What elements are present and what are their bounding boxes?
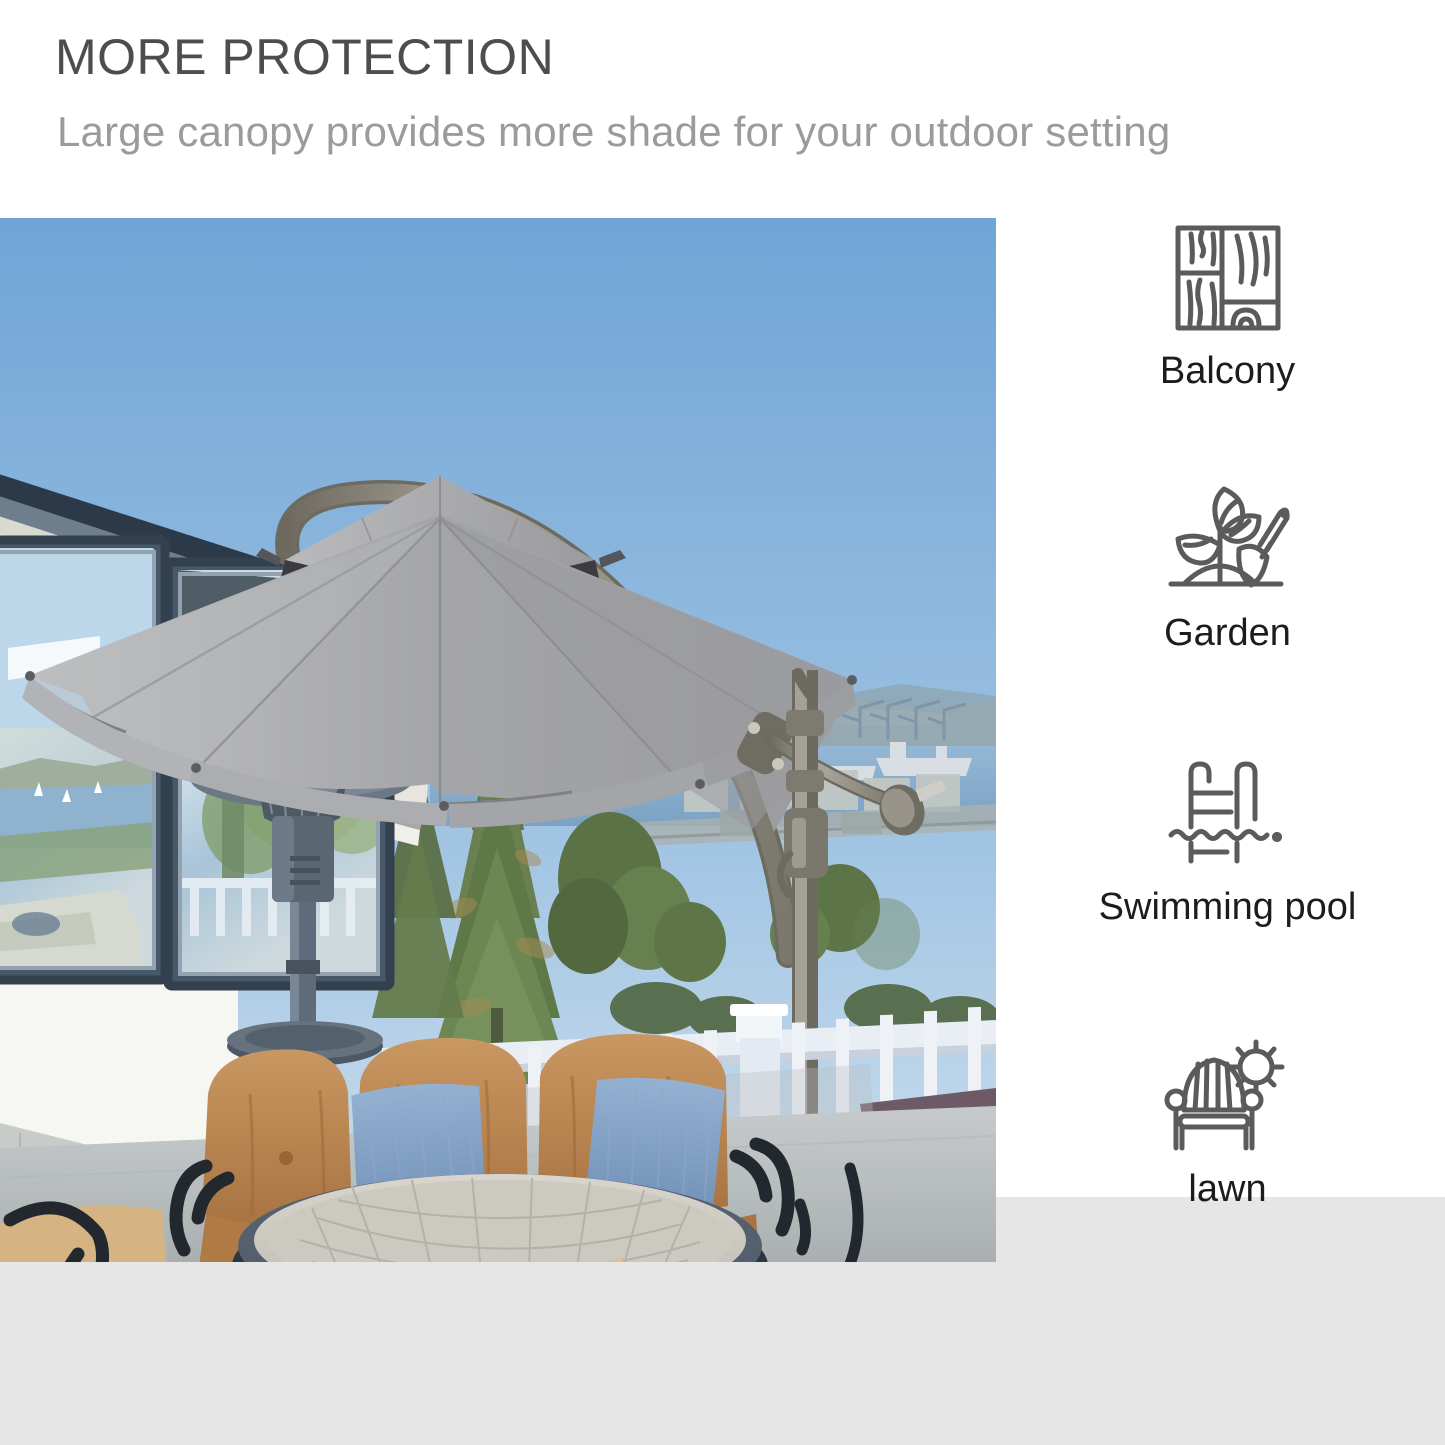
page-subtitle: Large canopy provides more shade for you…: [57, 108, 1170, 156]
wood-deck-icon: [1169, 222, 1287, 332]
feature-item-balcony[interactable]: Balcony: [1010, 218, 1445, 390]
pool-ladder-icon: [1165, 757, 1291, 869]
feature-label-swimming-pool: Swimming pool: [1010, 888, 1445, 926]
feature-item-garden[interactable]: Garden: [1010, 480, 1445, 652]
patio-umbrella-scene: [0, 218, 996, 1262]
page-title: MORE PROTECTION: [55, 28, 554, 86]
product-photo: [0, 218, 996, 1262]
feature-item-swimming-pool[interactable]: Swimming pool: [1010, 754, 1445, 926]
feature-item-lawn[interactable]: lawn: [1010, 1036, 1445, 1208]
feature-label-garden: Garden: [1010, 614, 1445, 652]
feature-icon-wrapper: [1010, 480, 1445, 598]
plant-trowel-icon: [1163, 483, 1293, 595]
feature-label-balcony: Balcony: [1010, 352, 1445, 390]
header: MORE PROTECTION Large canopy provides mo…: [0, 0, 1445, 218]
feature-icon-wrapper: [1010, 754, 1445, 872]
feature-label-lawn: lawn: [1010, 1170, 1445, 1208]
feature-icon-wrapper: [1010, 1036, 1445, 1154]
feature-list: Balcony: [1010, 218, 1445, 1338]
feature-icon-wrapper: [1010, 218, 1445, 336]
lawn-chair-sun-icon: [1162, 1036, 1294, 1154]
